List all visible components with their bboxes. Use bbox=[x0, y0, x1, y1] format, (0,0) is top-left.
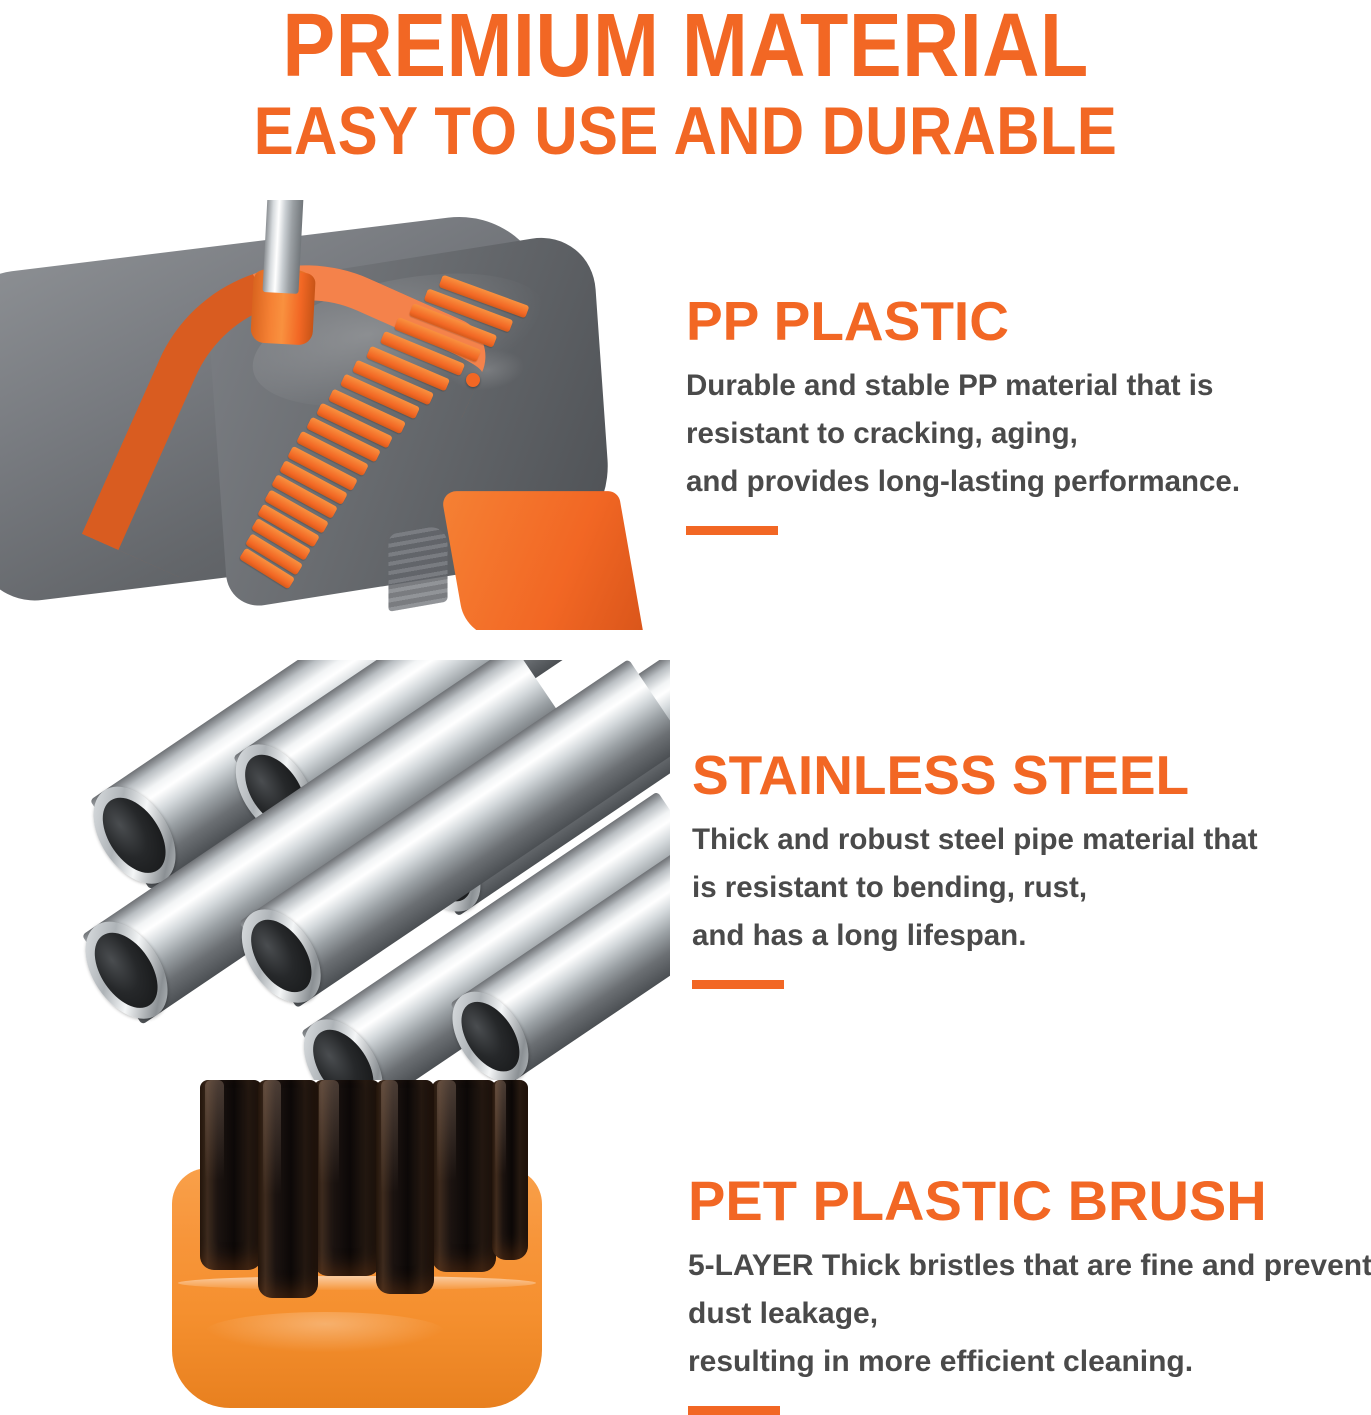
stainless-steel-body-line-1: Thick and robust steel pipe material tha… bbox=[692, 816, 1332, 864]
pp-plastic-copy: PP PLASTIC Durable and stable PP materia… bbox=[686, 292, 1326, 535]
pet-plastic-brush-body-line-3: resulting in more efficient cleaning. bbox=[688, 1338, 1371, 1386]
bristle-tuft bbox=[376, 1080, 434, 1294]
pp-plastic-body: Durable and stable PP material that is r… bbox=[686, 362, 1326, 506]
pp-plastic-title: PP PLASTIC bbox=[686, 292, 1326, 350]
steel-pipes-image bbox=[0, 660, 670, 1080]
bristle-tuft bbox=[258, 1080, 318, 1298]
pp-plastic-body-line-2: resistant to cracking, aging, bbox=[686, 410, 1326, 458]
pet-plastic-brush-title: PET PLASTIC BRUSH bbox=[688, 1172, 1371, 1230]
brush-base-lip bbox=[178, 1276, 536, 1290]
pp-plastic-underline-rule bbox=[686, 526, 778, 535]
dustpan-illustration bbox=[0, 200, 660, 630]
chrome-handle-pole bbox=[262, 200, 303, 294]
bristle-tuft bbox=[314, 1080, 380, 1276]
stainless-steel-body-line-2: is resistant to bending, rust, bbox=[692, 864, 1332, 912]
stainless-steel-body-line-3: and has a long lifespan. bbox=[692, 912, 1332, 960]
page-subtitle: EASY TO USE AND DURABLE bbox=[82, 90, 1288, 166]
steel-pipes-illustration bbox=[0, 660, 670, 1080]
brush-image bbox=[0, 1080, 660, 1415]
header-banner: PREMIUM MATERIAL EASY TO USE AND DURABLE bbox=[0, 0, 1371, 175]
pp-plastic-body-line-1: Durable and stable PP material that is bbox=[686, 362, 1326, 410]
dustpan-image bbox=[0, 200, 660, 630]
infographic-page: PREMIUM MATERIAL EASY TO USE AND DURABLE bbox=[0, 0, 1371, 1415]
bristle-tuft bbox=[200, 1080, 262, 1270]
pet-plastic-brush-copy: PET PLASTIC BRUSH 5-LAYER Thick bristles… bbox=[688, 1172, 1371, 1415]
brush-base-gloss bbox=[205, 1312, 445, 1352]
section-pet-plastic-brush: PET PLASTIC BRUSH 5-LAYER Thick bristles… bbox=[0, 1080, 1371, 1415]
stainless-steel-copy: STAINLESS STEEL Thick and robust steel p… bbox=[692, 746, 1332, 989]
bristle-tuft bbox=[492, 1080, 528, 1260]
stainless-steel-title: STAINLESS STEEL bbox=[692, 746, 1332, 804]
section-pp-plastic: PP PLASTIC Durable and stable PP materia… bbox=[0, 200, 1371, 640]
pp-plastic-body-line-3: and provides long-lasting performance. bbox=[686, 458, 1326, 506]
stainless-steel-body: Thick and robust steel pipe material tha… bbox=[692, 816, 1332, 960]
pet-plastic-brush-underline-rule bbox=[688, 1406, 780, 1415]
pet-plastic-brush-body-line-1: 5-LAYER Thick bristles that are fine and… bbox=[688, 1242, 1371, 1290]
pet-plastic-brush-body: 5-LAYER Thick bristles that are fine and… bbox=[688, 1242, 1371, 1386]
page-title: PREMIUM MATERIAL bbox=[82, 0, 1288, 90]
section-stainless-steel: STAINLESS STEEL Thick and robust steel p… bbox=[0, 660, 1371, 1090]
bristle-tuft bbox=[432, 1080, 496, 1272]
pet-plastic-brush-body-line-2: dust leakage, bbox=[688, 1290, 1371, 1338]
brush-illustration bbox=[0, 1080, 660, 1415]
stainless-steel-underline-rule bbox=[692, 980, 784, 989]
